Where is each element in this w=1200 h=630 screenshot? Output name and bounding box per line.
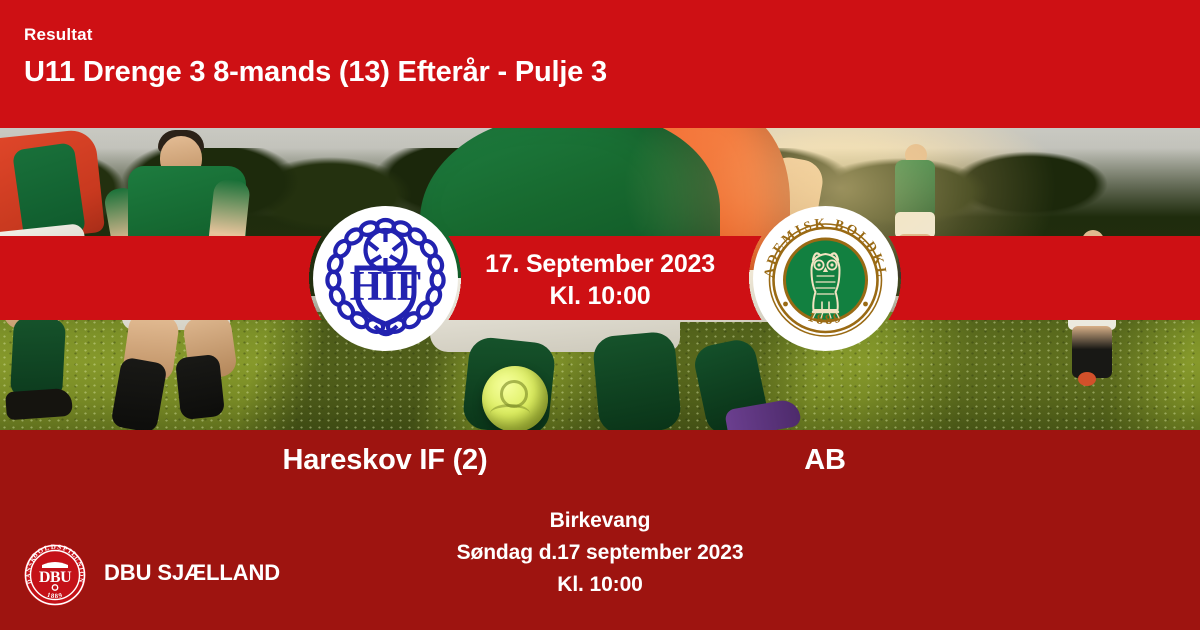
foreground-player-leg-right bbox=[592, 331, 682, 430]
match-info: Birkevang Søndag d.17 september 2023 Kl.… bbox=[300, 505, 900, 601]
match-date: 17. September 2023 bbox=[0, 248, 1200, 280]
match-day-date: Søndag d.17 september 2023 bbox=[300, 537, 900, 569]
dbu-seal-icon: BOLDSPIL DANSK UNION 1889 DBU bbox=[22, 542, 88, 608]
date-banner-text: 17. September 2023 Kl. 10:00 bbox=[0, 248, 1200, 312]
player-green-sock-back bbox=[175, 354, 225, 420]
hareskov-if-logo-icon: HIF bbox=[313, 206, 458, 351]
background-player-legs bbox=[1072, 326, 1112, 378]
venue-name: Birkevang bbox=[300, 505, 900, 537]
background-ball bbox=[1078, 372, 1096, 386]
player-red-sock bbox=[10, 317, 66, 400]
player-red-boot bbox=[5, 388, 73, 421]
football-ball bbox=[482, 366, 548, 430]
page-title: U11 Drenge 3 8-mands (13) Efterår - Pulj… bbox=[24, 55, 607, 90]
home-team-logo: HIF bbox=[313, 206, 458, 351]
dbu-branding: BOLDSPIL DANSK UNION 1889 DBU DBU SJÆLLA… bbox=[22, 542, 302, 612]
dbu-org-label: DBU SJÆLLAND bbox=[104, 562, 280, 584]
away-team-logo: AKADEMISK BOLDKLUB 1889 bbox=[753, 206, 898, 351]
svg-text:HIF: HIF bbox=[350, 264, 422, 310]
match-time: Kl. 10:00 bbox=[0, 280, 1200, 312]
background-player-torso bbox=[895, 160, 935, 218]
match-kickoff-time: Kl. 10:00 bbox=[300, 569, 900, 601]
dbu-monogram: DBU bbox=[39, 569, 72, 586]
akademisk-boldklub-logo-icon: AKADEMISK BOLDKLUB 1889 bbox=[753, 206, 898, 351]
match-result-card: Resultat U11 Drenge 3 8-mands (13) Efter… bbox=[0, 0, 1200, 630]
home-team-name: Hareskov IF (2) bbox=[185, 446, 585, 475]
header-kicker: Resultat bbox=[24, 26, 93, 43]
away-team-name: AB bbox=[625, 446, 1025, 475]
header-bar: Resultat U11 Drenge 3 8-mands (13) Efter… bbox=[0, 0, 1200, 128]
